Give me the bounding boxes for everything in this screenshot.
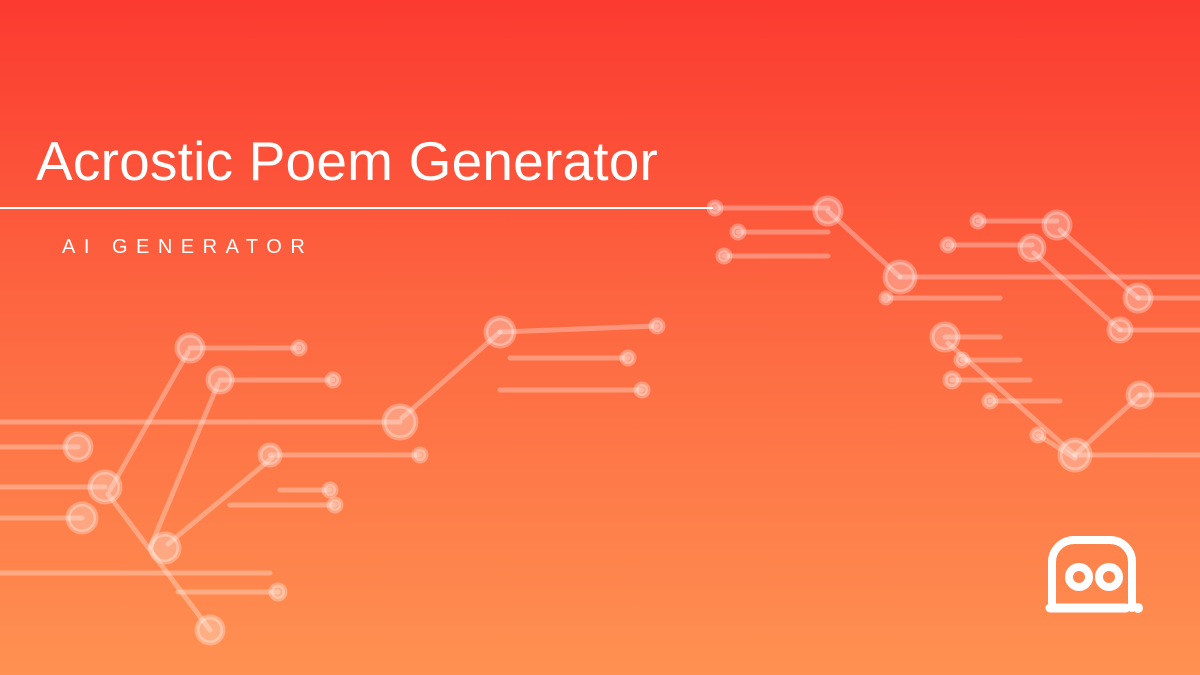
title-divider bbox=[0, 207, 713, 209]
circuit-cluster-top-right bbox=[709, 198, 1200, 292]
page-title: Acrostic Poem Generator bbox=[36, 125, 658, 197]
banner-canvas: Acrostic Poem Generator AI GENERATOR bbox=[0, 0, 1200, 675]
page-subtitle: AI GENERATOR bbox=[62, 232, 313, 262]
circuit-board-pattern bbox=[0, 0, 1200, 675]
circuit-cluster-right-upper bbox=[942, 212, 1200, 341]
circuit-cluster-right-mid bbox=[881, 293, 1200, 470]
robot-badge bbox=[1042, 532, 1146, 616]
robot-icon bbox=[1042, 532, 1146, 616]
circuit-cluster-center-left bbox=[0, 318, 663, 548]
circuit-cluster-bottom-left bbox=[0, 445, 426, 643]
